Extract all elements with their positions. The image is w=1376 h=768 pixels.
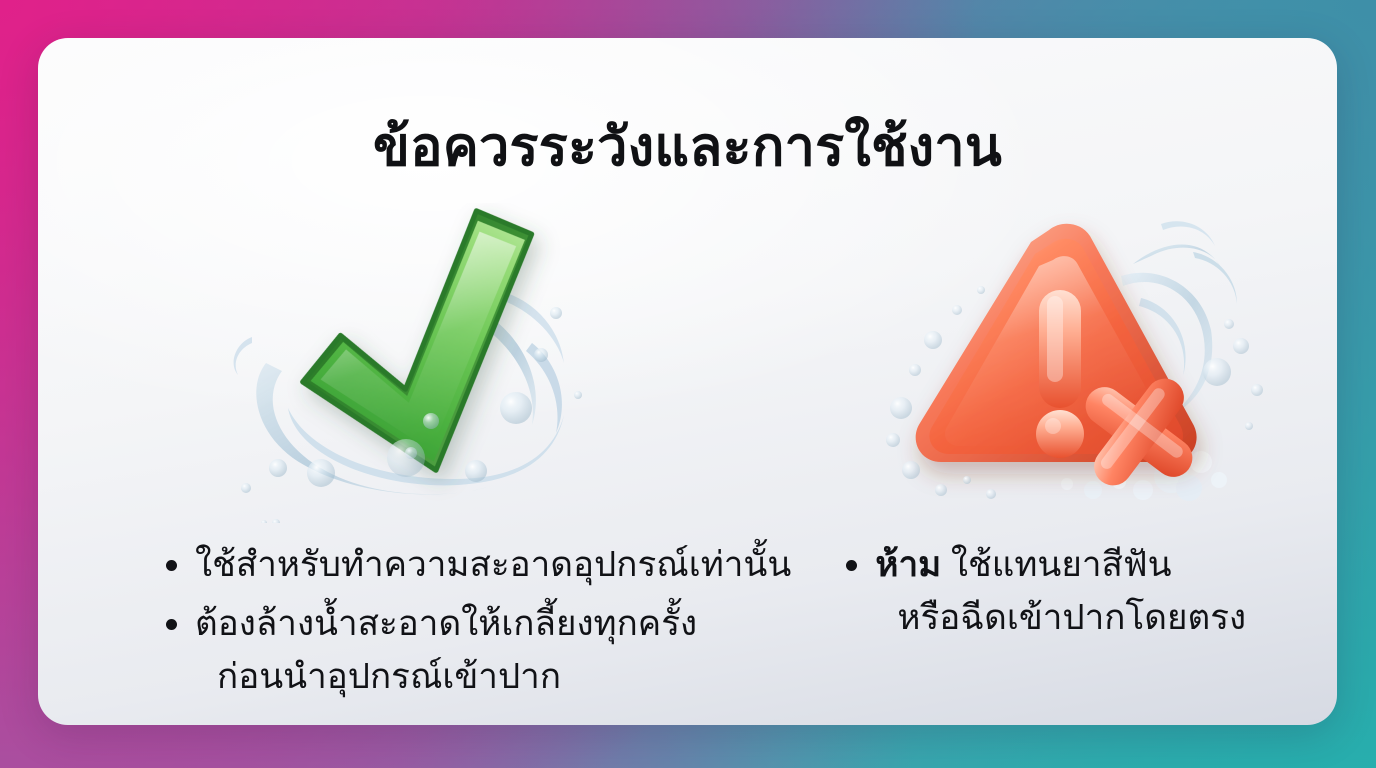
droplet: [977, 286, 985, 294]
droplet: [534, 348, 548, 362]
droplet: [1203, 358, 1231, 386]
allowed-bullet-list: ใช้สำหรับทำความสะอาดอุปกรณ์เท่านั้น ต้อง…: [166, 538, 774, 710]
content-columns: ใช้สำหรับทำความสะอาดอุปกรณ์เท่านั้น ต้อง…: [38, 188, 1337, 725]
droplet: [1233, 338, 1249, 354]
droplet: [500, 392, 532, 424]
droplet: [1245, 422, 1253, 430]
droplet: [241, 483, 251, 493]
list-item: ใช้สำหรับทำความสะอาดอุปกรณ์เท่านั้น: [166, 538, 774, 591]
droplet: [1224, 319, 1234, 329]
bullet-dot-icon: [166, 619, 177, 630]
droplet: [886, 433, 900, 447]
red-warning-triangle-icon: [871, 194, 1271, 524]
page-title: ข้อควรระวังและการใช้งาน: [38, 116, 1337, 178]
droplet: [550, 307, 562, 319]
emphasis-text: ห้าม: [875, 545, 941, 584]
droplet: [574, 391, 582, 399]
list-item-line: ห้าม ใช้แทนยาสีฟัน: [875, 538, 1317, 591]
droplet: [465, 460, 487, 482]
column-forbidden: ห้าม ใช้แทนยาสีฟัน หรือฉีดเข้าปากโดยตรง: [804, 188, 1337, 725]
green-check-svg: [226, 203, 616, 523]
droplet: [935, 484, 947, 496]
green-check-icon: [226, 203, 616, 523]
droplet: [269, 459, 287, 477]
droplet: [924, 331, 942, 349]
list-item-line: ก่อนนำอุปกรณ์เข้าปาก: [195, 650, 774, 703]
droplet: [307, 459, 335, 487]
bullet-dot-icon: [166, 560, 177, 571]
slide-stage: ข้อควรระวังและการใช้งาน: [0, 0, 1376, 768]
checkmark-illustration-area: [38, 198, 804, 528]
droplet: [902, 461, 920, 479]
droplet: [423, 413, 439, 429]
list-item: ห้าม ใช้แทนยาสีฟัน หรือฉีดเข้าปากโดยตรง: [846, 538, 1317, 644]
list-item-line: ต้องล้างน้ำสะอาดให้เกลี้ยงทุกครั้ง: [195, 597, 774, 650]
slide-card: ข้อควรระวังและการใช้งาน: [38, 38, 1337, 725]
droplet: [986, 489, 996, 499]
warning-illustration-area: [804, 194, 1337, 524]
list-item-line-rest: ใช้แทนยาสีฟัน: [941, 545, 1171, 584]
list-item-line: ใช้สำหรับทำความสะอาดอุปกรณ์เท่านั้น: [195, 538, 791, 591]
exclamation-mark-icon: [1036, 290, 1084, 458]
bullet-dot-icon: [846, 560, 857, 571]
list-item-text: ต้องล้างน้ำสะอาดให้เกลี้ยงทุกครั้ง ก่อนน…: [195, 597, 774, 703]
droplet: [952, 305, 962, 315]
droplet: [909, 364, 921, 376]
droplet: [963, 476, 971, 484]
droplet: [261, 520, 267, 523]
list-item-text: ห้าม ใช้แทนยาสีฟัน หรือฉีดเข้าปากโดยตรง: [875, 538, 1317, 644]
list-item-line: หรือฉีดเข้าปากโดยตรง: [875, 591, 1317, 644]
list-item: ต้องล้างน้ำสะอาดให้เกลี้ยงทุกครั้ง ก่อนน…: [166, 597, 774, 703]
warning-triangle-svg: [871, 194, 1271, 524]
column-allowed: ใช้สำหรับทำความสะอาดอุปกรณ์เท่านั้น ต้อง…: [38, 188, 804, 725]
droplet: [387, 439, 425, 477]
droplet: [890, 397, 912, 419]
droplet: [1251, 384, 1263, 396]
list-item-text: ใช้สำหรับทำความสะอาดอุปกรณ์เท่านั้น: [195, 538, 791, 591]
droplet: [272, 519, 280, 523]
forbidden-bullet-list: ห้าม ใช้แทนยาสีฟัน หรือฉีดเข้าปากโดยตรง: [846, 538, 1317, 650]
